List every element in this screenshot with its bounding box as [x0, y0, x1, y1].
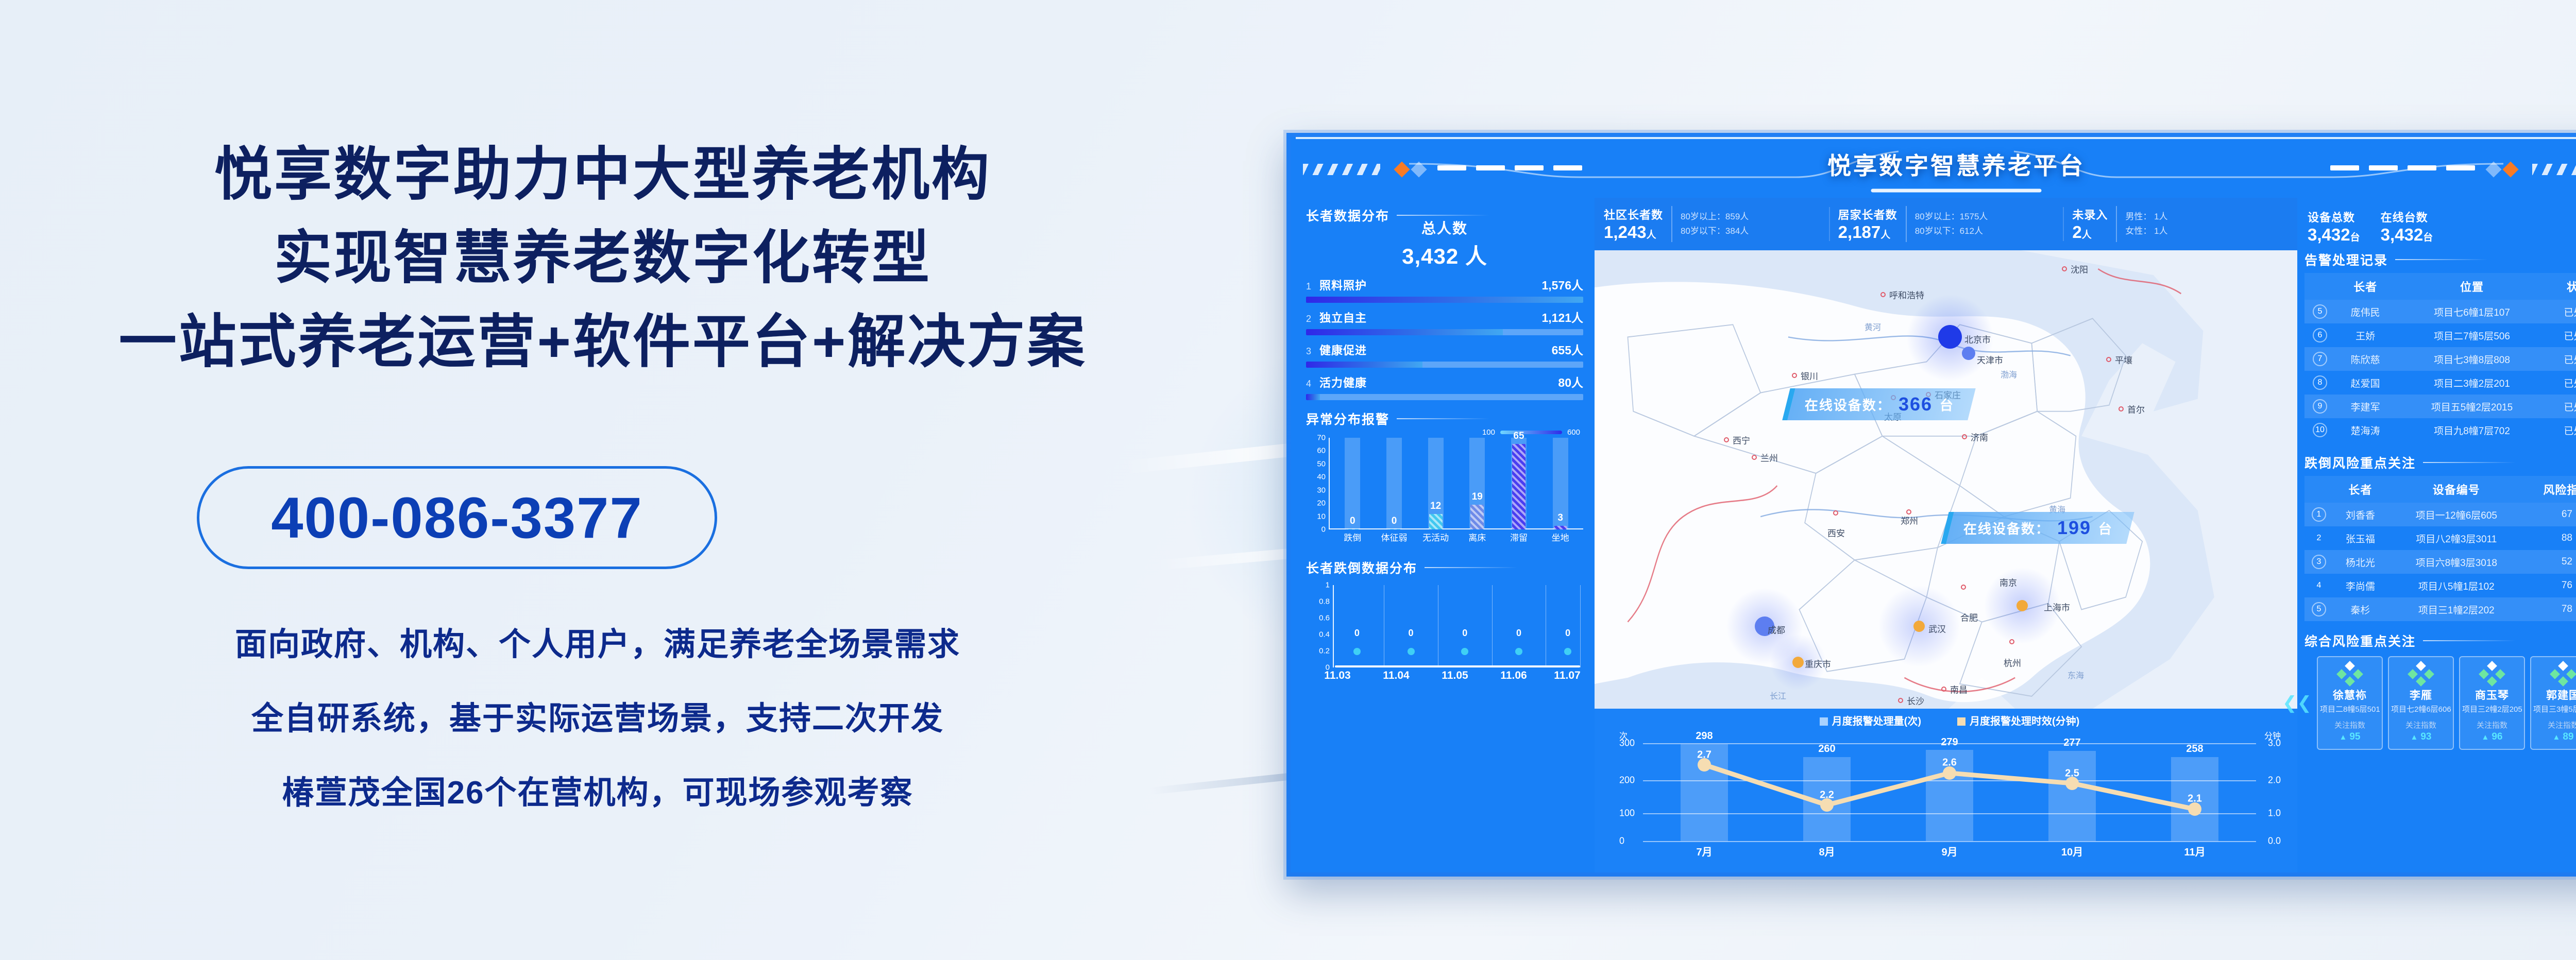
- y-tick: 0.6: [1319, 614, 1330, 623]
- x-tick: 9月: [1941, 844, 1957, 859]
- dist-row[interactable]: 4 活力健康 80人: [1306, 373, 1583, 400]
- city-label: 兰州: [1760, 451, 1778, 464]
- y2-tick: 2.0: [2268, 775, 2281, 786]
- alarm-records-table: 长者 位置 状态 5 庞伟民 项目七6幢1层107 已处理 6 王娇: [2304, 273, 2576, 442]
- line-point[interactable]: [1515, 648, 1522, 655]
- monthly-plot: 次 分钟 300 200 100 0 3.0 2.0 1.0 0.0: [1612, 729, 2287, 864]
- fall-chart-title: 长者跌倒数据分布: [1306, 558, 1417, 577]
- city-label: 上海市: [2044, 601, 2070, 613]
- city-label: 长沙: [1907, 694, 1924, 707]
- x-tick: 11.07: [1554, 670, 1580, 682]
- y-tick: 30: [1317, 486, 1326, 494]
- y-tick: 300: [1619, 738, 1635, 749]
- col-index: [2304, 273, 2335, 300]
- cell-location: 项目二3幢2层201: [2395, 371, 2549, 395]
- cell-location: 项目七3幢8层808: [2395, 347, 2549, 371]
- city-dot: [1792, 373, 1797, 378]
- cell-elder: 陈欣慈: [2335, 347, 2395, 371]
- cell-risk: 52: [2526, 550, 2576, 574]
- cell-status: 已处理: [2549, 347, 2576, 371]
- cell-elder: 赵爱国: [2335, 371, 2395, 395]
- dashboard-screen: 悦享数字智慧养老平台 长者数据分布 总人数 3,432 人 1 照料照护 1,5…: [1291, 137, 2576, 872]
- abnormal-title-row: 异常分布报警: [1306, 409, 1583, 428]
- fall-axis-line: [1333, 585, 1334, 667]
- cell-elder: 庞伟民: [2335, 300, 2395, 323]
- city-label: 南昌: [1950, 683, 1968, 696]
- risk-card-value: 89: [2563, 731, 2573, 742]
- row-index: 7: [2313, 352, 2327, 366]
- legend-max: 600: [1567, 428, 1580, 437]
- bar-value: 298: [1696, 730, 1713, 742]
- badge-label: 在线设备数：: [1963, 519, 2050, 538]
- fall-risk-panel: 跌倒风险重点关注 长者 设备编号 风险指数 1 刘香香 项目一12幢: [2304, 453, 2576, 621]
- stat-sub-2: 80岁以下：612人: [1915, 224, 1988, 238]
- table-header-row: 长者 位置 状态: [2304, 273, 2576, 300]
- dashboard-header: 悦享数字智慧养老平台: [1291, 137, 2576, 198]
- city-dot: [1941, 687, 1946, 692]
- point-value: 2.1: [2188, 793, 2202, 805]
- point-value: 0: [1565, 628, 1570, 639]
- triangle-up-icon: ▲: [2340, 733, 2347, 742]
- dist-bar-fill: [1306, 394, 1320, 400]
- y-tick: 0: [1619, 836, 1624, 847]
- point-value: 0: [1516, 628, 1521, 639]
- monthly-legend: 月度报警处理量(次) 月度报警处理时效(分钟): [1612, 713, 2287, 728]
- table-row[interactable]: 3 杨北光 项目六8幢3层3018 52: [2304, 550, 2576, 574]
- bar-column[interactable]: 12: [1428, 438, 1444, 529]
- risk-card[interactable]: 商玉琴 项目三2幢2层205 关注指数 ▲96: [2459, 656, 2525, 750]
- stat-label: 未录入: [2072, 206, 2108, 222]
- table-row[interactable]: 4 李尚儒 项目八5幢1层102 76: [2304, 574, 2576, 597]
- city-label: 成都: [1768, 623, 1785, 636]
- cell-elder: 张玉福: [2333, 526, 2387, 550]
- cell-elder: 秦杉: [2333, 597, 2387, 621]
- fall-plot: 1 0.8 0.6 0.4 0.2 0: [1306, 585, 1583, 682]
- abnormal-alarm-chart: 异常分布报警 100 600 70 60 50 40 30 20: [1306, 409, 1583, 541]
- cell-location: 项目九8幢7层702: [2395, 418, 2549, 442]
- cell-risk: 76: [2526, 574, 2576, 597]
- diamond-cluster-icon: [2391, 662, 2451, 685]
- subline-2: 全自研系统，基于实际运营场景，支持二次开发: [0, 692, 1195, 739]
- headline-group: 悦享数字助力中大型养老机构 实现智慧养老数字化转型 一站式养老运营+软件平台+解…: [0, 133, 1206, 384]
- point-value: 2.6: [1942, 757, 1957, 769]
- bar-column[interactable]: 0: [1345, 438, 1360, 529]
- dist-rank: 1: [1306, 281, 1319, 292]
- badge-label: 在线设备数：: [1805, 395, 1891, 414]
- risk-card-value: 96: [2492, 731, 2502, 742]
- stat-divider: [1906, 206, 1907, 242]
- alarm-title-row: 告警处理记录: [2304, 250, 2576, 269]
- risk-card-index-label: 关注指数: [2533, 719, 2576, 730]
- overall-risk-panel: 综合风险重点关注 ❮❮ 徐慧袮 项目二8幢5层501: [2304, 631, 2576, 750]
- stat-value: 2: [2072, 222, 2081, 242]
- bar-fill: 3: [1554, 526, 1567, 529]
- online-device-badge-2[interactable]: 在线设备数： 199 台: [1941, 512, 2134, 544]
- city-dot: [1962, 434, 1967, 439]
- cell-status: 已处理: [2549, 395, 2576, 418]
- bar-value: 0: [1350, 516, 1355, 527]
- bar-value: 3: [1557, 512, 1563, 524]
- x-tick: 离床: [1461, 530, 1494, 541]
- dashboard-columns: 长者数据分布 总人数 3,432 人 1 照料照护 1,576人 2 独立自主: [1291, 198, 2576, 872]
- stat-divider: [2116, 206, 2117, 242]
- stat-label: 社区长者数: [1604, 206, 1663, 222]
- city-dot: [1961, 585, 1966, 590]
- city-dot: [1833, 510, 1838, 516]
- line-point[interactable]: [1408, 648, 1415, 655]
- bar-column[interactable]: 3: [1553, 438, 1568, 529]
- dist-bar-track: [1306, 329, 1583, 335]
- legend-label: 月度报警处理量(次): [1832, 716, 1921, 727]
- cell-device-id: 项目八2幢3层3011: [2387, 526, 2526, 550]
- stat-unit: 台: [2350, 232, 2360, 243]
- overall-risk-title-row: 综合风险重点关注: [2304, 631, 2576, 650]
- risk-card-location: 项目三2幢2层205: [2462, 704, 2522, 714]
- stat-unit: 人: [1880, 230, 1890, 241]
- bar-fill: 0: [1346, 529, 1359, 529]
- dist-row[interactable]: 1 照料照护 1,576人: [1306, 276, 1583, 303]
- row-index: 10: [2313, 423, 2327, 437]
- dist-rank: 2: [1306, 314, 1319, 324]
- dist-rank: 4: [1306, 379, 1319, 389]
- y-tick: 0.2: [1319, 647, 1330, 656]
- dist-name: 活力健康: [1319, 374, 1367, 390]
- fall-chart-title-row: 长者跌倒数据分布: [1306, 558, 1583, 577]
- city-label: 银川: [1801, 369, 1818, 382]
- bar-value: 19: [1472, 491, 1483, 503]
- abnormal-y-axis: 70 60 50 40 30 20 10 0: [1306, 438, 1329, 529]
- fall-risk-title-row: 跌倒风险重点关注: [2304, 453, 2576, 472]
- sea-label: 东海: [2067, 668, 2084, 681]
- marker-tianjin[interactable]: [1962, 347, 1975, 360]
- table-row[interactable]: 2 张玉福 项目八2幢3层3011 88: [2304, 526, 2576, 550]
- table-row[interactable]: 10 楚海涛 项目九8幢7层702 已处理: [2304, 418, 2576, 442]
- cell-location: 项目五5幢2层2015: [2395, 395, 2549, 418]
- legend-item-volume[interactable]: 月度报警处理量(次): [1820, 713, 1921, 728]
- stat-sub-2: 80岁以下：384人: [1681, 224, 1749, 238]
- risk-card-location: 项目三3幢5层502: [2533, 704, 2576, 714]
- city-label: 济南: [1971, 431, 1988, 443]
- col-device-id: 设备编号: [2387, 476, 2526, 503]
- badge-value: 366: [1899, 393, 1933, 415]
- y-tick: 0.4: [1319, 630, 1330, 639]
- dist-row[interactable]: 3 健康促进 655人: [1306, 340, 1583, 368]
- bar-fill: 19: [1470, 505, 1484, 529]
- legend-item-duration[interactable]: 月度报警处理时效(分钟): [1957, 713, 2079, 728]
- subline-group: 面向政府、机构、个人用户，满足养老全场景需求 全自研系统，基于实际运营场景，支持…: [0, 618, 1195, 841]
- online-device-badge-1[interactable]: 在线设备数： 366 台: [1782, 388, 1976, 420]
- stat-value: 3,432: [2381, 225, 2424, 244]
- dist-bar-fill: [1306, 297, 1583, 303]
- risk-card-value: 95: [2349, 731, 2360, 742]
- stat-value: 1,243: [1604, 222, 1647, 242]
- col-risk-index: 风险指数: [2526, 476, 2576, 503]
- badge-unit: 台: [1940, 395, 1954, 414]
- city-label: 杭州: [2004, 656, 2021, 669]
- y-tick: 0: [1321, 525, 1326, 534]
- dist-value: 1,121人: [1541, 308, 1583, 325]
- y2-tick: 0.0: [2268, 836, 2281, 847]
- point-value: 2.2: [1820, 789, 1834, 801]
- abnormal-legend: 100 600: [1306, 428, 1580, 437]
- stat-unit: 人: [1647, 230, 1656, 241]
- stat-card-device-total[interactable]: 设备总数 3,432台: [2308, 209, 2360, 245]
- dashboard-title: 悦享数字智慧养老平台: [1291, 147, 2576, 181]
- table-row[interactable]: 7 陈欣慈 项目七3幢8层808 已处理: [2304, 347, 2576, 371]
- x-tick: 10月: [2061, 844, 2083, 859]
- y-tick: 50: [1317, 459, 1326, 468]
- risk-card[interactable]: 李雁 项目七2幢6层606 关注指数 ▲93: [2388, 656, 2454, 750]
- city-label: 北京市: [1964, 333, 1991, 346]
- marker-wuhan[interactable]: [1913, 621, 1925, 632]
- city-label: 南京: [1999, 576, 2017, 589]
- table-row[interactable]: 5 庞伟民 项目七6幢1层107 已处理: [2304, 300, 2576, 323]
- triangle-up-icon: ▲: [2482, 733, 2489, 742]
- monthly-alarm-chart: 月度报警处理量(次) 月度报警处理时效(分钟) 次 分钟 300 200 100…: [1595, 709, 2297, 872]
- dist-bar-fill: [1306, 362, 1422, 368]
- row-index: 8: [2313, 375, 2327, 390]
- y-tick: 100: [1619, 808, 1635, 819]
- stat-strip: 社区长者数 1,243人 80岁以上：859人 80岁以下：384人 居家长者数…: [1595, 198, 2297, 250]
- marketing-panel: 悦享数字助力中大型养老机构 实现智慧养老数字化转型 一站式养老运营+软件平台+解…: [0, 0, 1226, 960]
- x-tick: 8月: [1819, 844, 1835, 859]
- col-location: 位置: [2395, 273, 2549, 300]
- y-tick: 10: [1317, 512, 1326, 521]
- dist-value: 1,576人: [1541, 276, 1583, 293]
- table-header-row: 长者 设备编号 风险指数: [2304, 476, 2576, 503]
- point-value: 0: [1462, 628, 1467, 639]
- stat-card-community[interactable]: 社区长者数 1,243人 80岁以上：859人 80岁以下：384人: [1595, 198, 1829, 250]
- alarm-records-title: 告警处理记录: [2304, 250, 2388, 269]
- cell-elder: 杨北光: [2333, 550, 2387, 574]
- row-index: 1: [2312, 507, 2326, 522]
- fall-data-chart: 长者跌倒数据分布 1 0.8 0.6 0.4 0.2 0: [1306, 558, 1583, 682]
- fall-points: 0 0 0 0 0: [1335, 585, 1580, 667]
- stat-card-device-online[interactable]: 在线台数 3,432台: [2381, 209, 2433, 245]
- device-stat-group: 设备总数 3,432台 在线台数 3,432台: [2304, 203, 2576, 250]
- dist-row[interactable]: 2 独立自主 1,121人: [1306, 308, 1583, 335]
- bar-value: 0: [1392, 516, 1397, 527]
- cell-elder: 刘香香: [2333, 503, 2387, 526]
- cell-risk: 88: [2526, 526, 2576, 550]
- x-tick: 11.05: [1442, 670, 1468, 682]
- city-label: 合肥: [1960, 611, 1978, 624]
- bar-column[interactable]: 65: [1511, 438, 1527, 529]
- x-tick: 11.06: [1500, 670, 1527, 682]
- line-point[interactable]: [1461, 648, 1468, 655]
- risk-card[interactable]: 郭建国 项目三3幢5层502 关注指数 ▲89: [2530, 656, 2576, 750]
- table-row[interactable]: 6 王娇 项目二7幢5层506 已处理: [2304, 323, 2576, 347]
- phone-button[interactable]: 400-086-3377: [197, 466, 717, 569]
- abnormal-bars: 0 0 12 19 65: [1332, 438, 1581, 529]
- cell-risk: 67: [2526, 503, 2576, 526]
- abnormal-axis-line: [1329, 438, 1330, 529]
- right-column: 设备总数 3,432台 在线台数 3,432台 告警处理记录 长者: [2297, 198, 2576, 872]
- y-tick: 20: [1317, 499, 1326, 508]
- risk-card-name: 郭建国: [2533, 687, 2576, 702]
- city-label: 重庆市: [1805, 657, 1831, 670]
- x-tick: 11月: [2184, 844, 2205, 859]
- cell-status: 已处理: [2549, 418, 2576, 442]
- dist-bar-track: [1306, 362, 1583, 368]
- dist-bar-fill: [1306, 329, 1503, 335]
- title-rule-icon: [2423, 640, 2516, 641]
- dist-bar-track: [1306, 297, 1583, 303]
- diamond-cluster-icon: [2533, 662, 2576, 685]
- risk-card-index-label: 关注指数: [2462, 719, 2522, 730]
- row-index: 2: [2312, 531, 2326, 545]
- y-tick: 1: [1326, 581, 1330, 590]
- cell-elder: 李建军: [2335, 395, 2395, 418]
- city-label: 沈阳: [2071, 263, 2088, 276]
- stat-unit: 台: [2423, 232, 2433, 243]
- row-index: 6: [2313, 328, 2327, 342]
- legend-swatch-line-icon: [1957, 717, 1965, 726]
- headline-1: 悦享数字助力中大型养老机构: [0, 133, 1206, 216]
- cell-location: 项目七6幢1层107: [2395, 300, 2549, 323]
- city-label: 郑州: [1901, 514, 1918, 527]
- point-value: 2.5: [2065, 767, 2079, 779]
- china-map[interactable]: 呼和浩特 沈阳 北京市 天津市 平壤 石家庄 银川 太原 济南 首尔 西宁: [1595, 250, 2297, 709]
- chevron-left-icon[interactable]: ❮❮: [2282, 693, 2312, 713]
- risk-card[interactable]: 徐慧袮 项目二8幢5层501 关注指数 ▲95: [2317, 656, 2383, 750]
- title-rule-icon: [1425, 567, 1517, 568]
- city-dot: [1898, 698, 1903, 703]
- city-dot: [2009, 639, 2014, 644]
- bar-fill: 0: [1387, 529, 1401, 529]
- sea-label: 渤海: [2001, 368, 2017, 380]
- marker-shanghai[interactable]: [2016, 600, 2028, 611]
- triangle-up-icon: ▲: [2553, 733, 2561, 742]
- overall-risk-carousel: ❮❮ 徐慧袮 项目二8幢5层501 关注指数 ▲95: [2304, 656, 2576, 750]
- risk-card-value: 93: [2420, 731, 2431, 742]
- table-row[interactable]: 1 刘香香 项目一12幢6层605 67: [2304, 503, 2576, 526]
- abnormal-x-labels: 跌倒 体征弱 无活动 离床 滞留 坐地: [1332, 530, 1581, 541]
- marker-chongqing[interactable]: [1792, 657, 1804, 668]
- stat-value: 3,432: [2308, 225, 2350, 244]
- row-index: 5: [2312, 602, 2326, 616]
- city-label: 平壤: [2115, 353, 2132, 366]
- cell-elder: 王娇: [2335, 323, 2395, 347]
- risk-card-name: 徐慧袮: [2320, 687, 2380, 702]
- cell-location: 项目二7幢5层506: [2395, 323, 2549, 347]
- fall-risk-title: 跌倒风险重点关注: [2304, 453, 2416, 472]
- y2-tick: 1.0: [2268, 808, 2281, 819]
- center-column: 社区长者数 1,243人 80岁以上：859人 80岁以下：384人 居家长者数…: [1595, 198, 2297, 872]
- alarm-records-panel: 告警处理记录 长者 位置 状态 5 庞伟民 项目七6幢1层107: [2304, 250, 2576, 442]
- line-point[interactable]: [1353, 648, 1361, 655]
- dist-name: 健康促进: [1319, 341, 1367, 358]
- headline-2: 实现智慧养老数字化转型: [0, 216, 1206, 300]
- city-label: 武汉: [1928, 622, 1946, 635]
- dist-rank: 3: [1306, 346, 1319, 357]
- cell-device-id: 项目三1幢2层202: [2387, 597, 2526, 621]
- risk-card-location: 项目七2幢6层606: [2391, 704, 2451, 714]
- abnormal-chart-title: 异常分布报警: [1306, 409, 1389, 428]
- stat-value: 2,187: [1838, 222, 1881, 242]
- x-tick: 11.04: [1383, 670, 1409, 682]
- cell-elder: 李尚儒: [2333, 574, 2387, 597]
- row-index: 5: [2313, 304, 2327, 319]
- fall-risk-table: 长者 设备编号 风险指数 1 刘香香 项目一12幢6层605 67 2 张玉福: [2304, 476, 2576, 621]
- city-dot: [1752, 455, 1757, 460]
- table-row[interactable]: 5 秦杉 项目三1幢2层202 78: [2304, 597, 2576, 621]
- stat-sub-1: 80岁以上：859人: [1681, 210, 1749, 224]
- title-rule-icon: [2423, 462, 2516, 463]
- badge-value: 199: [2057, 517, 2091, 539]
- y-tick: 60: [1317, 447, 1326, 455]
- risk-card-index-label: 关注指数: [2320, 719, 2380, 730]
- overall-risk-title: 综合风险重点关注: [2304, 631, 2416, 650]
- stat-sub-2: 女性： 1人: [2125, 224, 2167, 238]
- badge-unit: 台: [2098, 519, 2113, 538]
- bar-fill: 12: [1429, 514, 1443, 529]
- risk-card-index-label: 关注指数: [2391, 719, 2451, 730]
- stat-label: 居家长者数: [1838, 206, 1897, 222]
- city-dot: [2062, 266, 2067, 271]
- point-value: 0: [1409, 628, 1414, 639]
- diamond-cluster-icon: [2462, 662, 2522, 685]
- line-point[interactable]: [1564, 648, 1571, 655]
- cell-risk: 78: [2526, 597, 2576, 621]
- stat-label: 在线台数: [2381, 209, 2433, 225]
- city-label: 天津市: [1977, 353, 2003, 366]
- phone-number: 400-086-3377: [271, 485, 642, 551]
- stat-divider: [1671, 206, 1672, 242]
- cell-device-id: 项目一12幢6层605: [2387, 503, 2526, 526]
- dist-value: 80人: [1558, 373, 1583, 390]
- table-row[interactable]: 9 李建军 项目五5幢2层2015 已处理: [2304, 395, 2576, 418]
- elder-dist-title: 长者数据分布: [1306, 206, 1389, 225]
- risk-card-name: 商玉琴: [2462, 687, 2522, 702]
- elder-total-value: 3,432 人: [1306, 239, 1583, 270]
- dist-bar-track: [1306, 394, 1583, 400]
- marker-beijing[interactable]: [1938, 325, 1962, 349]
- stat-sub-1: 80岁以上：1575人: [1915, 210, 1988, 224]
- col-elder: 长者: [2333, 476, 2387, 503]
- x-tick: 跌倒: [1336, 530, 1369, 541]
- stat-card-home[interactable]: 居家长者数 2,187人 80岁以上：1575人 80岁以下：612人: [1829, 198, 2063, 250]
- stat-card-unregistered[interactable]: 未录入 2人 男性： 1人 女性： 1人: [2063, 198, 2297, 250]
- stat-label: 设备总数: [2308, 209, 2360, 225]
- city-dot: [2119, 406, 2124, 412]
- sea-label: 长江: [1770, 689, 1786, 701]
- point-value: 0: [1354, 628, 1360, 639]
- cell-device-id: 项目八5幢1层102: [2387, 574, 2526, 597]
- title-rule-icon: [1397, 215, 1489, 216]
- x-tick: 11.03: [1324, 670, 1350, 682]
- title-rule-icon: [2395, 259, 2488, 260]
- triangle-up-icon: ▲: [2411, 733, 2418, 742]
- subline-3: 椿萱茂全国26个在营机构，可现场参观考察: [0, 766, 1195, 813]
- table-row[interactable]: 8 赵爱国 项目二3幢2层201 已处理: [2304, 371, 2576, 395]
- stat-unit: 人: [2082, 230, 2092, 241]
- bar-column[interactable]: 19: [1469, 438, 1485, 529]
- headline-3: 一站式养老运营+软件平台+解决方案: [0, 300, 1206, 384]
- title-rule-icon: [1397, 418, 1489, 419]
- y-tick: 200: [1619, 775, 1635, 786]
- legend-label: 月度报警处理时效(分钟): [1970, 716, 2079, 727]
- cell-elder: 楚海涛: [2335, 418, 2395, 442]
- city-dot: [1724, 437, 1729, 442]
- city-dot: [2106, 357, 2111, 362]
- x-tick: 体征弱: [1378, 530, 1411, 541]
- row-index: 9: [2313, 399, 2327, 414]
- bar-column[interactable]: 0: [1386, 438, 1402, 529]
- diamond-cluster-icon: [2320, 662, 2380, 685]
- dashboard-device: 悦享数字智慧养老平台 长者数据分布 总人数 3,432 人 1 照料照护 1,5…: [1286, 133, 2576, 877]
- stat-sub-1: 男性： 1人: [2125, 210, 2167, 224]
